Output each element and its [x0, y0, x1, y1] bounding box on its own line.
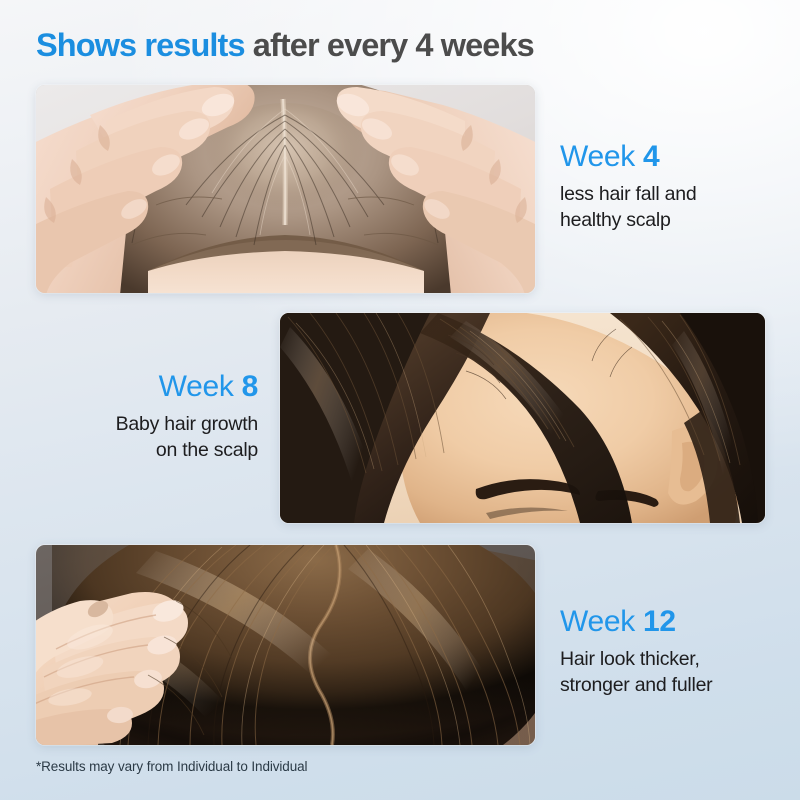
- photo-week-4-graphic: [36, 85, 535, 293]
- photo-week-8-graphic: [280, 313, 765, 523]
- photo-week-12-graphic: [36, 545, 535, 745]
- week-word-12: Week: [560, 605, 643, 638]
- week-label-4: Week 4: [560, 141, 780, 173]
- week-description-12: Hair look thicker, stronger and fuller: [560, 647, 790, 697]
- week-number-4: 4: [643, 140, 659, 173]
- page-title: Shows results after every 4 weeks: [36, 27, 534, 64]
- week-description-4: less hair fall and healthy scalp: [560, 182, 780, 232]
- caption-week-8: Week 8 Baby hair growth on the scalp: [40, 371, 258, 463]
- promo-infographic: Shows results after every 4 weeks: [0, 0, 800, 800]
- week-word-4: Week: [560, 140, 643, 173]
- week-number-12: 12: [643, 605, 676, 638]
- week-number-8: 8: [242, 370, 258, 403]
- result-photo-week-4: [36, 85, 535, 293]
- disclaimer-footnote: *Results may vary from Individual to Ind…: [36, 759, 307, 774]
- week-word-8: Week: [159, 370, 242, 403]
- caption-week-12: Week 12 Hair look thicker, stronger and …: [560, 606, 790, 698]
- week-label-8: Week 8: [40, 371, 258, 403]
- week-label-12: Week 12: [560, 606, 790, 638]
- page-title-rest: after every 4 weeks: [245, 27, 534, 63]
- week-description-8: Baby hair growth on the scalp: [40, 412, 258, 462]
- result-photo-week-12: [36, 545, 535, 745]
- caption-week-4: Week 4 less hair fall and healthy scalp: [560, 141, 780, 233]
- page-title-highlight: Shows results: [36, 27, 245, 63]
- result-photo-week-8: [280, 313, 765, 523]
